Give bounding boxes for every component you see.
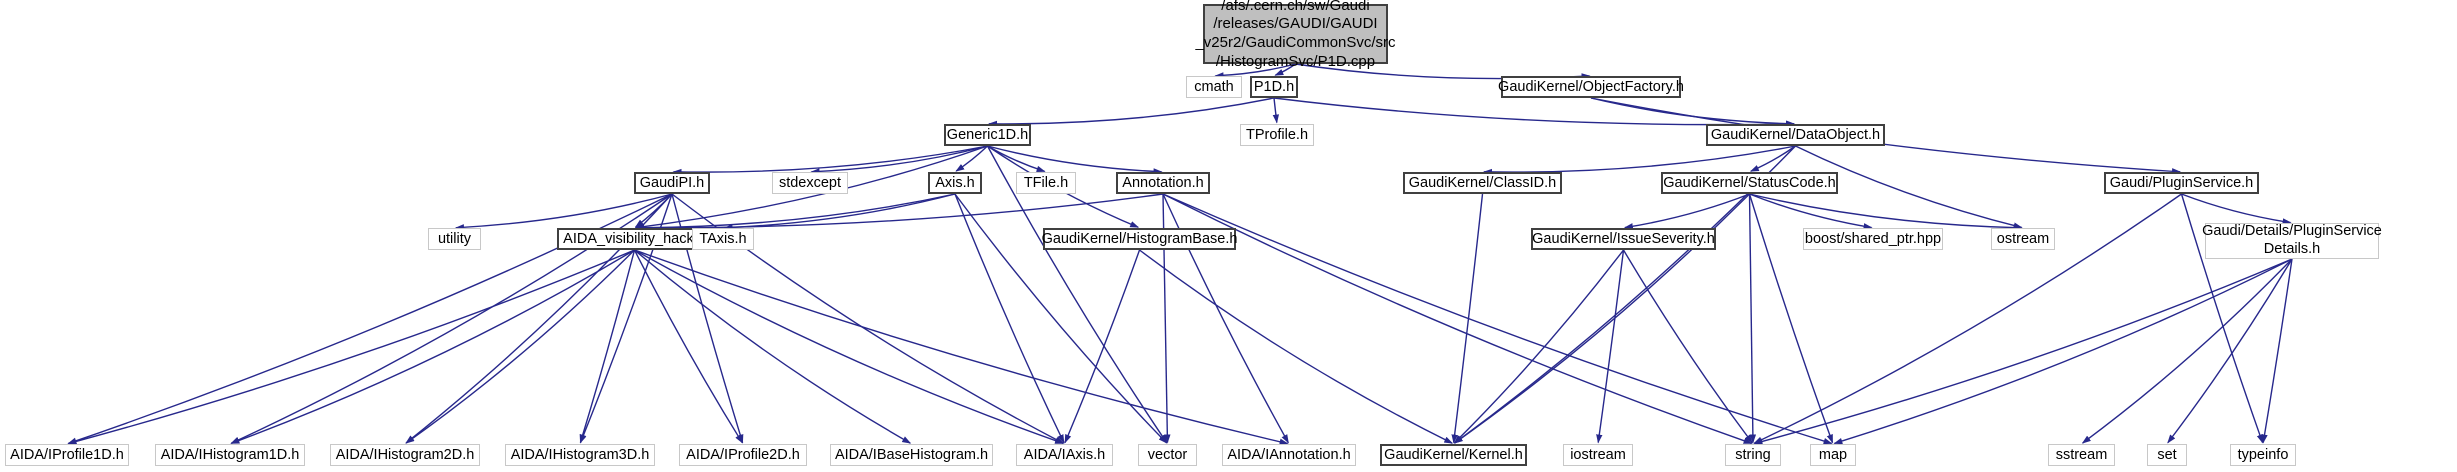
graph-edge-p1d-to-generic1d (989, 98, 1274, 124)
graph-node-boostsharedptr[interactable]: boost/shared_ptr.hpp (1803, 228, 1943, 250)
graph-edge-aidahack-to-ihistogram3d (580, 250, 634, 443)
graph-edge-issueseverity-to-kernel (1454, 250, 1623, 443)
graph-edge-objectfactory-to-pluginservice (1591, 98, 2180, 172)
graph-node-iaxis[interactable]: AIDA/IAxis.h (1016, 444, 1113, 466)
graph-node-iostream[interactable]: iostream (1563, 444, 1633, 466)
graph-node-ostream[interactable]: ostream (1991, 228, 2055, 250)
graph-edge-histogrambase-to-iaxis (1065, 250, 1139, 443)
graph-node-kernel[interactable]: GaudiKernel/Kernel.h (1380, 444, 1527, 466)
graph-node-pluginservdet[interactable]: Gaudi/Details/PluginService Details.h (2205, 223, 2379, 259)
graph-edge-issueseverity-to-iostream (1598, 250, 1623, 443)
graph-node-iprofile1d[interactable]: AIDA/IProfile1D.h (5, 444, 129, 466)
graph-edge-statuscode-to-string (1750, 194, 1753, 443)
graph-node-utility[interactable]: utility (428, 228, 481, 250)
graph-node-map[interactable]: map (1810, 444, 1856, 466)
graph-edge-generic1d-to-gaudipi (673, 146, 987, 172)
graph-node-iannotation[interactable]: AIDA/IAnnotation.h (1222, 444, 1356, 466)
graph-node-p1d[interactable]: P1D.h (1250, 76, 1298, 98)
graph-edge-aidahack-to-iaxis (635, 250, 1064, 443)
graph-node-ihistogram3d[interactable]: AIDA/IHistogram3D.h (505, 444, 655, 466)
graph-node-dataobject[interactable]: GaudiKernel/DataObject.h (1706, 124, 1885, 146)
graph-node-gaudipi[interactable]: GaudiPI.h (634, 172, 710, 194)
graph-node-vector[interactable]: vector (1138, 444, 1197, 466)
graph-node-statuscode[interactable]: GaudiKernel/StatusCode.h (1661, 172, 1838, 194)
graph-node-iprofile2d[interactable]: AIDA/IProfile2D.h (679, 444, 807, 466)
graph-edge-generic1d-to-tfile (988, 146, 1045, 171)
graph-edge-issueseverity-to-string (1624, 250, 1753, 443)
graph-edge-pluginservice-to-pluginservdet (2182, 194, 2291, 223)
graph-edge-aidahack-to-iprofile1d (68, 250, 634, 444)
include-dependency-graph: /afs/.cern.ch/sw/Gaudi /releases/GAUDI/G… (0, 0, 2457, 472)
graph-node-pluginservice[interactable]: Gaudi/PluginService.h (2104, 172, 2259, 194)
graph-edge-gaudipi-to-utility (456, 194, 672, 228)
graph-edge-objectfactory-to-dataobject (1591, 98, 1794, 124)
graph-edge-annotation-to-aidahack (636, 194, 1163, 228)
graph-edge-p1d-to-tprofile (1274, 98, 1277, 123)
graph-node-tprofile[interactable]: TProfile.h (1240, 124, 1314, 146)
graph-node-set[interactable]: set (2147, 444, 2187, 466)
graph-edge-pluginservdet-to-set (2168, 259, 2292, 443)
graph-edge-dataobject-to-classid (1484, 146, 1796, 172)
graph-node-ihistogram2d[interactable]: AIDA/IHistogram2D.h (330, 444, 480, 466)
graph-node-typeinfo[interactable]: typeinfo (2230, 444, 2296, 466)
graph-edge-aidahack-to-iannotation (635, 250, 1288, 444)
graph-node-stdexcept[interactable]: stdexcept (772, 172, 848, 194)
graph-node-generic1d[interactable]: Generic1D.h (944, 124, 1031, 146)
graph-edge-aidahack-to-ibasehistogram (635, 250, 911, 443)
graph-node-root[interactable]: /afs/.cern.ch/sw/Gaudi /releases/GAUDI/G… (1203, 4, 1388, 64)
graph-edge-pluginservdet-to-sstream (2083, 259, 2292, 443)
graph-edge-statuscode-to-ostream (1750, 194, 2022, 228)
graph-edge-statuscode-to-boostsharedptr (1750, 194, 1872, 228)
graph-edge-pluginservdet-to-typeinfo (2263, 259, 2292, 443)
graph-node-issueseverity[interactable]: GaudiKernel/IssueSeverity.h (1531, 228, 1716, 250)
graph-node-ihistogram1d[interactable]: AIDA/IHistogram1D.h (155, 444, 305, 466)
graph-node-classid[interactable]: GaudiKernel/ClassID.h (1403, 172, 1562, 194)
graph-edge-histogrambase-to-kernel (1140, 250, 1453, 443)
graph-node-aidahack[interactable]: AIDA_visibility_hack.h (557, 228, 712, 250)
graph-edge-pluginservdet-to-string (1754, 259, 2292, 444)
graph-edge-classid-to-kernel (1454, 194, 1483, 443)
graph-node-cmath[interactable]: cmath (1186, 76, 1242, 98)
graph-node-taxis[interactable]: TAxis.h (692, 228, 754, 250)
graph-node-sstream[interactable]: sstream (2048, 444, 2115, 466)
graph-edge-annotation-to-map (1163, 194, 1832, 443)
graph-node-axis[interactable]: Axis.h (928, 172, 982, 194)
graph-node-string[interactable]: string (1725, 444, 1781, 466)
graph-edge-aidahack-to-ihistogram2d (406, 250, 634, 443)
graph-node-histogrambase[interactable]: GaudiKernel/HistogramBase.h (1043, 228, 1236, 250)
graph-node-tfile[interactable]: TFile.h (1016, 172, 1076, 194)
graph-node-annotation[interactable]: Annotation.h (1116, 172, 1210, 194)
graph-node-ibasehistogram[interactable]: AIDA/IBaseHistogram.h (830, 444, 993, 466)
graph-node-objectfactory[interactable]: GaudiKernel/ObjectFactory.h (1501, 76, 1681, 98)
